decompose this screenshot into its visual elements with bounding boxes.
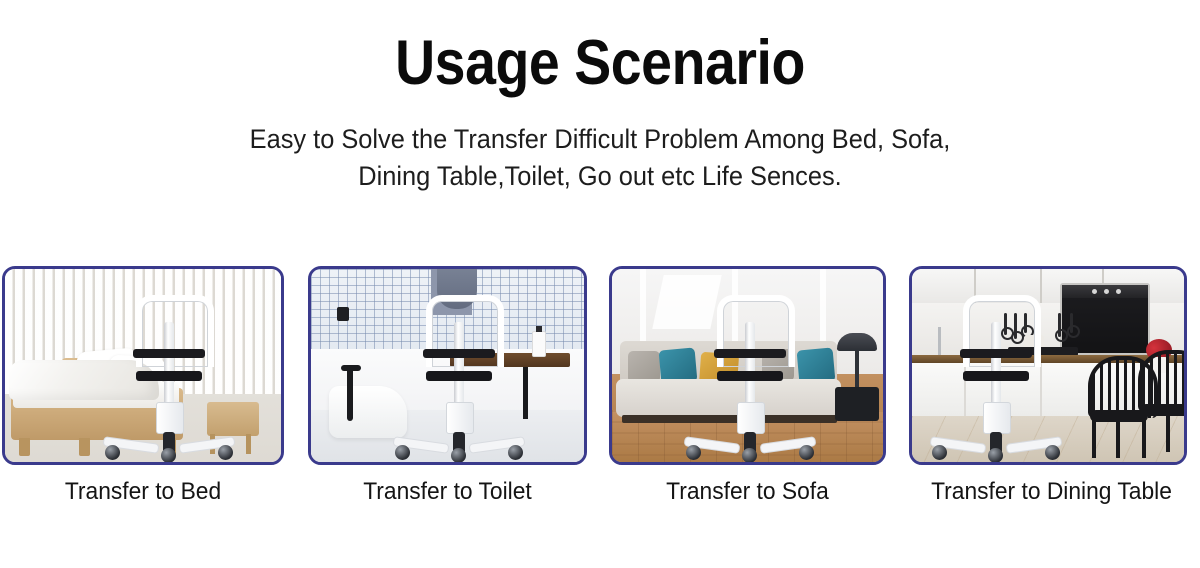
caption-row: Transfer to Bed Transfer to Toilet Trans…: [0, 472, 1200, 530]
lift-control-box: [156, 402, 184, 434]
caption-transfer-to-dining-table: Transfer to Dining Table: [916, 472, 1187, 512]
lift-caster-wheel: [686, 445, 701, 460]
lift-caster-wheel: [988, 448, 1003, 462]
nightstand-leg: [246, 434, 251, 454]
lift-caster-wheel: [218, 445, 233, 460]
lift-backrest: [423, 349, 495, 358]
lift-seat: [717, 371, 783, 381]
scenario-card-toilet[interactable]: [308, 266, 587, 465]
lift-caster-wheel: [932, 445, 947, 460]
lift-caster-wheel: [451, 448, 466, 462]
hanging-utensil: [1070, 313, 1073, 333]
lift-seat: [426, 371, 492, 381]
chair-leg: [1166, 414, 1170, 452]
lift-seat: [136, 371, 202, 381]
bed-leg: [79, 438, 90, 456]
lift-caster-wheel: [105, 445, 120, 460]
oven-knob: [1104, 289, 1109, 294]
dining-chair: [1138, 350, 1184, 450]
side-table: [835, 387, 879, 421]
wall-switch: [337, 307, 349, 321]
lift-caster-wheel: [395, 445, 410, 460]
lift-caster-wheel: [799, 445, 814, 460]
lift-caster-wheel: [161, 448, 176, 462]
bathroom-scene-image: [311, 269, 584, 462]
lift-caster-wheel: [1045, 445, 1060, 460]
grab-bar-arm: [341, 365, 361, 371]
patient-transfer-lift: [690, 295, 810, 460]
caption-transfer-to-bed: Transfer to Bed: [9, 472, 277, 512]
hanging-utensil: [1058, 313, 1061, 337]
living-room-scene-image: [612, 269, 883, 462]
lift-backrest: [960, 349, 1032, 358]
toilet: [329, 386, 407, 438]
floor-lamp-shade: [837, 333, 877, 351]
counter-support: [523, 367, 528, 419]
lift-caster-wheel: [742, 448, 757, 462]
oven-knob: [1092, 289, 1097, 294]
caption-transfer-to-toilet: Transfer to Toilet: [315, 472, 580, 512]
lift-control-box: [737, 402, 765, 434]
page-subtitle: Easy to Solve the Transfer Difficult Pro…: [36, 95, 1164, 196]
patient-transfer-lift: [936, 295, 1056, 460]
patient-transfer-lift: [109, 295, 229, 460]
subtitle-line-1: Easy to Solve the Transfer Difficult Pro…: [36, 121, 1164, 158]
chair-leg: [1092, 420, 1096, 458]
grab-bar: [347, 365, 353, 421]
chair-leg: [1116, 420, 1120, 458]
lift-backrest: [133, 349, 205, 358]
lift-caster-wheel: [508, 445, 523, 460]
lift-backrest: [714, 349, 786, 358]
floor-lamp-stem: [855, 351, 859, 387]
patient-transfer-lift: [399, 295, 519, 460]
scenario-card-bed[interactable]: [2, 266, 284, 465]
scenario-card-row: [0, 266, 1200, 466]
lift-seat: [963, 371, 1029, 381]
chair-backrest: [1138, 350, 1184, 412]
subtitle-line-2: Dining Table,Toilet, Go out etc Life Sen…: [36, 158, 1164, 195]
scenario-card-dining-table[interactable]: [909, 266, 1187, 465]
chair-seat: [1140, 404, 1184, 416]
caption-transfer-to-sofa: Transfer to Sofa: [616, 472, 879, 512]
lift-control-box: [446, 402, 474, 434]
built-in-oven: [1060, 283, 1150, 355]
soap-dispenser: [532, 331, 546, 357]
oven-knob: [1116, 289, 1121, 294]
usage-scenario-page: Usage Scenario Easy to Solve the Transfe…: [0, 0, 1200, 568]
bedroom-scene-image: [5, 269, 281, 462]
lift-control-box: [983, 402, 1011, 434]
scenario-card-sofa[interactable]: [609, 266, 886, 465]
page-title: Usage Scenario: [72, 0, 1128, 95]
bed-leg: [19, 438, 30, 456]
kitchen-scene-image: [912, 269, 1184, 462]
chair-leg: [1142, 414, 1146, 452]
